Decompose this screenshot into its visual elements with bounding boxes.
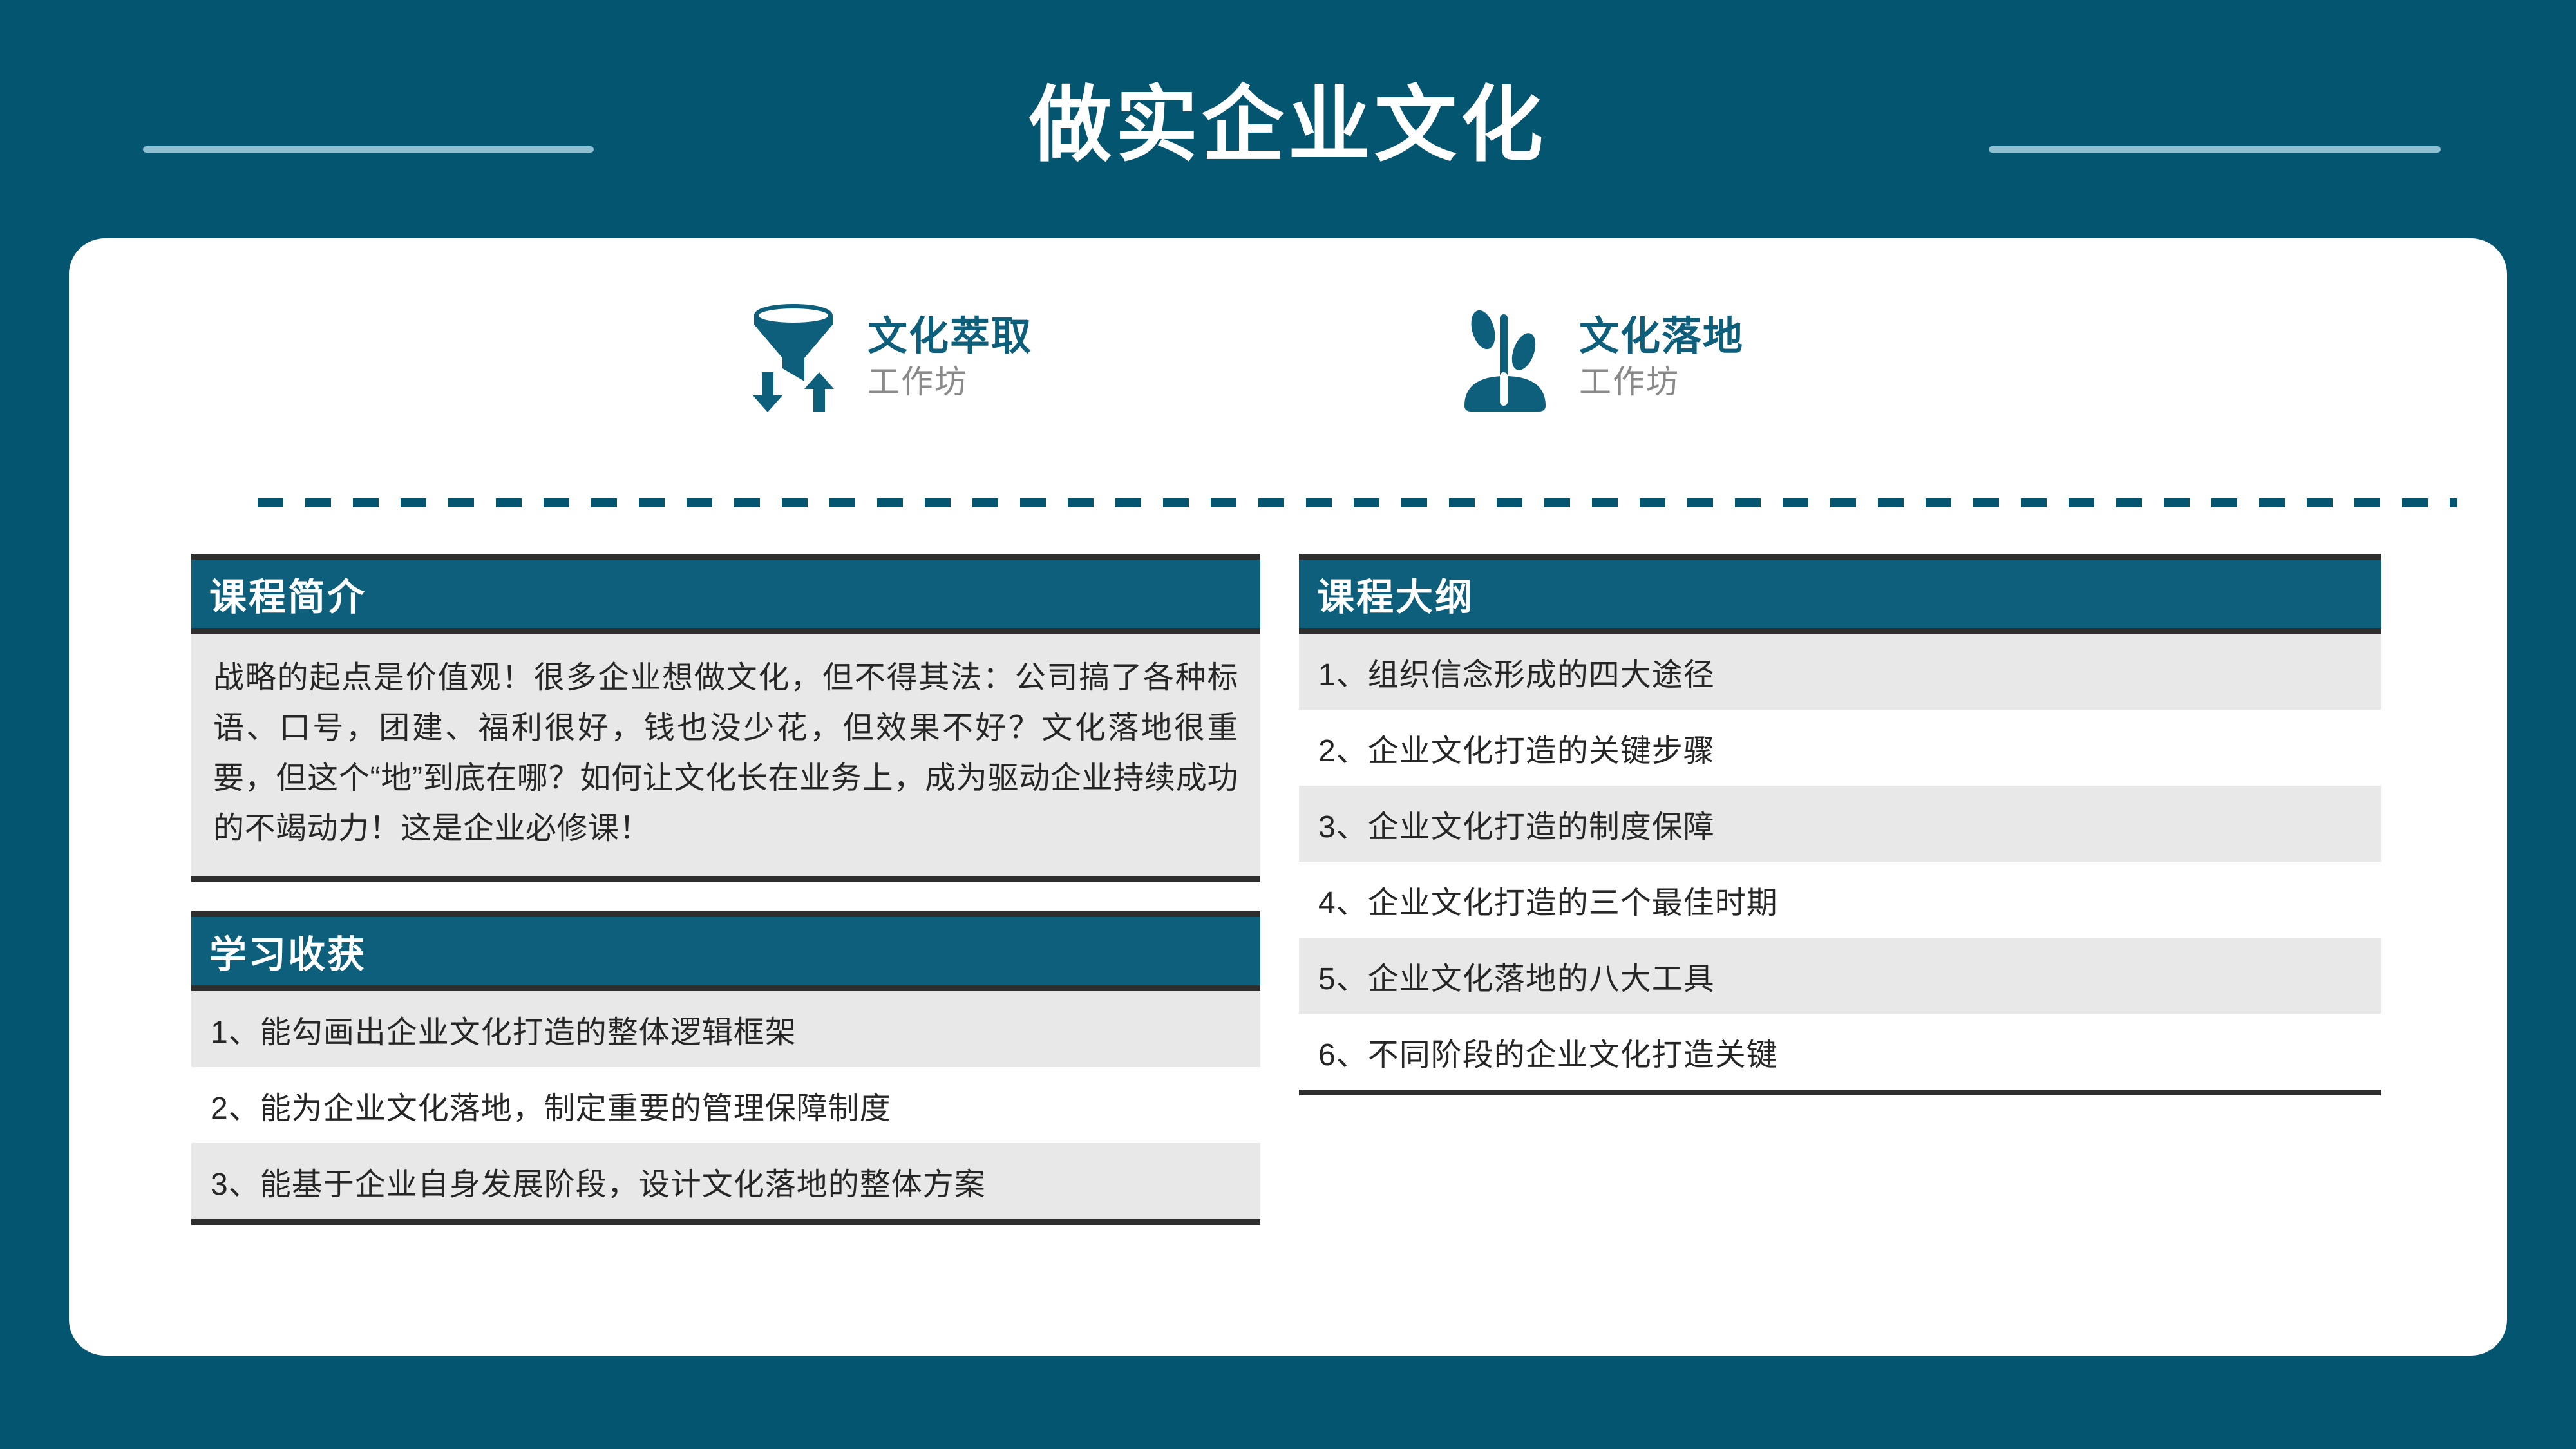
list-item[interactable]: 1、组织信念形成的四大途径 — [1299, 634, 2381, 710]
sprout-plant-icon — [1457, 303, 1553, 412]
section-title: 学习收获 — [191, 924, 366, 978]
section-header-outline: 课程大纲 — [1299, 554, 2381, 634]
section-title: 课程大纲 — [1299, 567, 1474, 621]
title-band: 做实企业文化 — [0, 0, 2576, 238]
list-item[interactable]: 2、能为企业文化落地，制定重要的管理保障制度 — [191, 1067, 1260, 1143]
workshop-subtitle: 工作坊 — [1579, 361, 1744, 402]
list-item[interactable]: 6、不同阶段的企业文化打造关键 — [1299, 1014, 2381, 1090]
content-card: 文化萃取 工作坊 — [69, 238, 2507, 1356]
workshop-row: 文化萃取 工作坊 — [69, 303, 2507, 438]
workshop-subtitle: 工作坊 — [867, 361, 1032, 402]
page-title: 做实企业文化 — [0, 77, 2576, 174]
outline-list: 1、组织信念形成的四大途径 2、企业文化打造的关键步骤 3、企业文化打造的制度保… — [1299, 634, 2381, 1095]
course-intro-body: 战略的起点是价值观！很多企业想做文化，但不得其法：公司搞了各种标语、口号，团建、… — [191, 634, 1260, 882]
left-column: 课程简介 战略的起点是价值观！很多企业想做文化，但不得其法：公司搞了各种标语、口… — [191, 554, 1260, 1225]
section-header-intro: 课程简介 — [191, 554, 1260, 634]
funnel-extract-icon — [745, 303, 842, 412]
workshop-item-implementation[interactable]: 文化落地 工作坊 — [1457, 303, 1744, 412]
right-column: 课程大纲 1、组织信念形成的四大途径 2、企业文化打造的关键步骤 3、企业文化打… — [1299, 554, 2381, 1095]
workshop-title: 文化萃取 — [867, 312, 1032, 361]
section-title: 课程简介 — [191, 567, 366, 621]
slide-root: 做实企业文化 — [0, 0, 2576, 1449]
list-item[interactable]: 3、企业文化打造的制度保障 — [1299, 786, 2381, 862]
workshop-title: 文化落地 — [1579, 312, 1744, 361]
list-item[interactable]: 2、企业文化打造的关键步骤 — [1299, 710, 2381, 786]
list-item[interactable]: 1、能勾画出企业文化打造的整体逻辑框架 — [191, 991, 1260, 1067]
section-header-gains: 学习收获 — [191, 911, 1260, 991]
workshop-item-extraction[interactable]: 文化萃取 工作坊 — [745, 303, 1032, 412]
gains-list: 1、能勾画出企业文化打造的整体逻辑框架 2、能为企业文化落地，制定重要的管理保障… — [191, 991, 1260, 1225]
list-item[interactable]: 4、企业文化打造的三个最佳时期 — [1299, 862, 2381, 938]
dashed-divider — [258, 498, 2457, 507]
list-item[interactable]: 5、企业文化落地的八大工具 — [1299, 938, 2381, 1014]
course-intro-paragraph: 战略的起点是价值观！很多企业想做文化，但不得其法：公司搞了各种标语、口号，团建、… — [213, 653, 1238, 854]
workshop-text-implementation: 文化落地 工作坊 — [1579, 312, 1744, 402]
list-item[interactable]: 3、能基于企业自身发展阶段，设计文化落地的整体方案 — [191, 1143, 1260, 1219]
workshop-text-extraction: 文化萃取 工作坊 — [867, 312, 1032, 402]
spacer — [191, 882, 1260, 911]
